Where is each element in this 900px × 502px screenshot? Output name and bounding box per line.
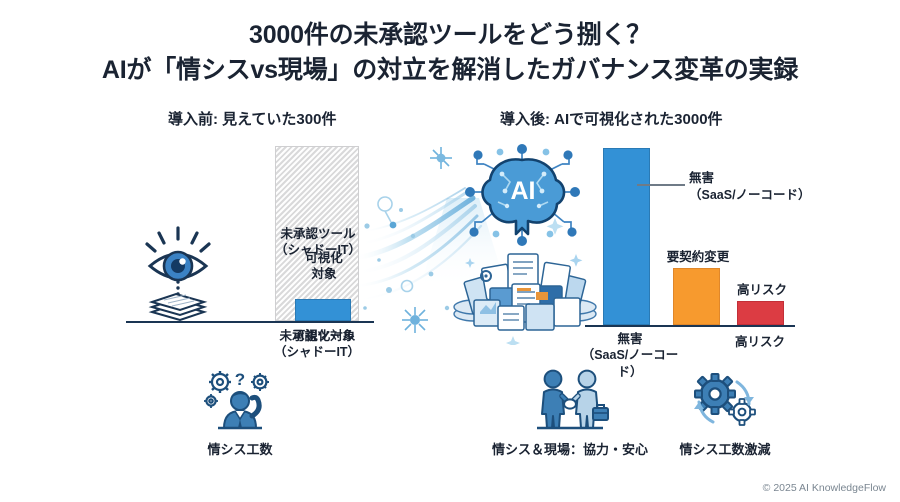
bar-shadow-it-label-l1: 未承認ツール (280, 227, 355, 241)
outcome-collaboration: 情シス＆現場：協力・安心 (490, 368, 650, 458)
outcome-before-label: 情シス工数 (180, 439, 300, 458)
callout-leader-line (637, 184, 685, 186)
outcome-before: ? 情シス工数 (180, 368, 300, 458)
svg-text:?: ? (235, 370, 245, 389)
bar-contract-change (673, 268, 720, 325)
section-heading-after: 導入後: AIで可視化された3000件 (500, 108, 723, 129)
bar-visible-scope-label: 可視化 対象 (288, 250, 360, 282)
section-heading-before: 導入前: 見えていた300件 (168, 108, 336, 129)
outcome-after-label: 情シス工数激減 (655, 439, 795, 458)
after-chart: 無害 （SaaS/ノーコード） 要契約変更 高リスク 無害 （SaaS/ノーコー… (585, 138, 885, 363)
bar-high-risk-label: 高リスク (725, 279, 799, 298)
after-category-harmless-l1: 無害 (617, 332, 642, 346)
before-chart-axis (126, 321, 374, 323)
before-chart: 未承認ツール （シャドーIT） 可視化 対象 可視化対象 未承認ツール （シャド… (120, 138, 385, 363)
outcome-collaboration-label: 情シス＆現場：協力・安心 (490, 439, 650, 458)
title-line-1: 3000件の未承認ツールをどう捌く？ (0, 18, 900, 53)
infographic-canvas: 3000件の未承認ツールをどう捌く？ AIが「情シスvs現場」の対立を解消したガ… (0, 0, 900, 502)
bar-harmless-callout-l1: 無害 (689, 171, 714, 185)
ai-transition-art: AI (355, 140, 605, 345)
before-category-shadow-l1: 未承認ツール (279, 329, 354, 343)
bar-visible-scope (295, 299, 351, 321)
eye-visibility-icon (142, 226, 214, 321)
title-line-2: AIが「情シスvs現場」の対立を解消したガバナンス変革の実録 (0, 53, 900, 88)
handshake-icon (490, 368, 650, 435)
ai-brain-text: AI (511, 177, 536, 205)
bar-harmless-callout-label: 無害 （SaaS/ノーコード） (689, 170, 824, 203)
outcome-after: 情シス工数激減 (655, 368, 795, 458)
page-title: 3000件の未承認ツールをどう捌く？ AIが「情シスvs現場」の対立を解消したガ… (0, 18, 900, 87)
bar-visible-scope-label-l2: 対象 (311, 267, 336, 281)
after-chart-axis (585, 325, 795, 327)
bar-visible-scope-label-l1: 可視化 (305, 251, 343, 265)
documents-cluster-icon (450, 232, 600, 332)
bar-contract-change-label: 要契約変更 (655, 246, 741, 265)
bar-high-risk (737, 301, 784, 325)
gears-cycle-icon (655, 368, 795, 435)
stressed-worker-gears-icon: ? (180, 368, 300, 435)
before-category-shadow-l2: （シャドーIT） (274, 345, 360, 359)
bar-harmless-callout-l2: （SaaS/ノーコード） (689, 188, 811, 202)
bar-harmless (603, 148, 650, 325)
after-category-high-risk: 高リスク (723, 331, 797, 350)
copyright-footer: © 2025 AI KnowledgeFlow (763, 482, 886, 494)
